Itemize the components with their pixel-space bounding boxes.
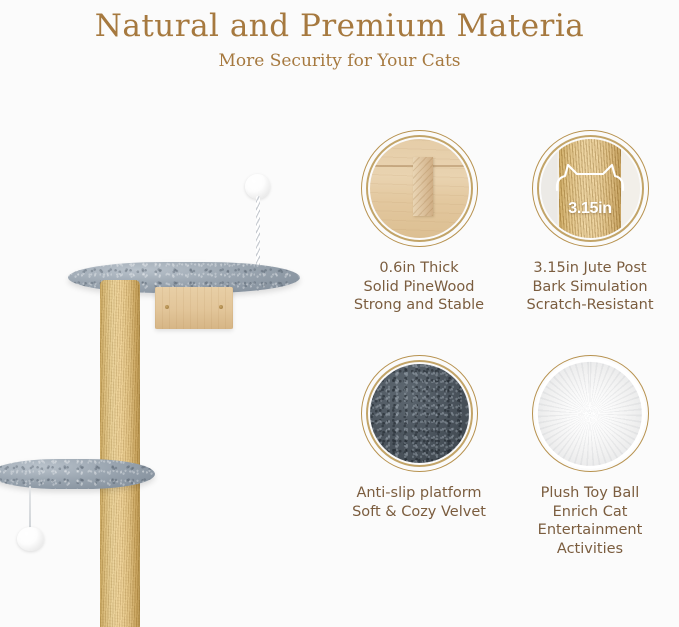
hanging-pompom-string [29, 486, 31, 531]
pompom-background [535, 358, 646, 469]
hanging-pompom-ball [17, 527, 44, 551]
product-photo [0, 84, 330, 627]
page-title: Natural and Premium Materia [0, 0, 679, 48]
screw-hole-right [219, 305, 223, 309]
jute-wrapped-post [100, 280, 140, 627]
feature-caption: Anti-slip platform Soft & Cozy Velvet [334, 484, 504, 521]
plush-texture [0, 459, 155, 489]
feature-anti-slip-velvet: Anti-slip platform Soft & Cozy Velvet [334, 355, 504, 521]
middle-plush-platform [0, 459, 155, 489]
jute-rope-texture [100, 280, 140, 627]
feature-icon-pompom-closeup [532, 355, 649, 472]
feature-icon-wood-plank-closeup [361, 130, 478, 247]
wooden-support-block [155, 287, 233, 329]
image-pompom-ball [535, 358, 646, 469]
wood-plank-edge [413, 157, 433, 216]
feature-icon-velvet-closeup [361, 355, 478, 472]
feature-caption: 0.6in Thick Solid PineWood Strong and St… [334, 259, 504, 315]
feature-solid-pinewood: 0.6in Thick Solid PineWood Strong and St… [334, 130, 504, 315]
cat-ears-outline-icon [551, 160, 629, 194]
screw-hole-left [165, 305, 169, 309]
image-wood-plank [370, 139, 469, 238]
page-subtitle: More Security for Your Cats [0, 48, 679, 74]
feature-caption: Plush Toy Ball Enrich Cat Entertainment … [505, 484, 675, 558]
feature-icon-jute-post-closeup: 3.15in [532, 130, 649, 247]
feature-caption: 3.15in Jute Post Bark Simulation Scratch… [505, 259, 675, 315]
jute-diameter-label: 3.15in [568, 200, 612, 218]
image-velvet-texture [370, 364, 469, 463]
feature-grid: 0.6in Thick Solid PineWood Strong and St… [330, 130, 679, 610]
pompom-sphere [538, 361, 642, 465]
velvet-surface [370, 364, 469, 463]
feature-plush-toy-ball: Plush Toy Ball Enrich Cat Entertainment … [505, 355, 675, 558]
header: Natural and Premium Materia More Securit… [0, 0, 679, 90]
feature-jute-post: 3.15in 3.15in Jute Post Bark Simulation … [505, 130, 675, 315]
image-jute-post: 3.15in [541, 139, 640, 238]
